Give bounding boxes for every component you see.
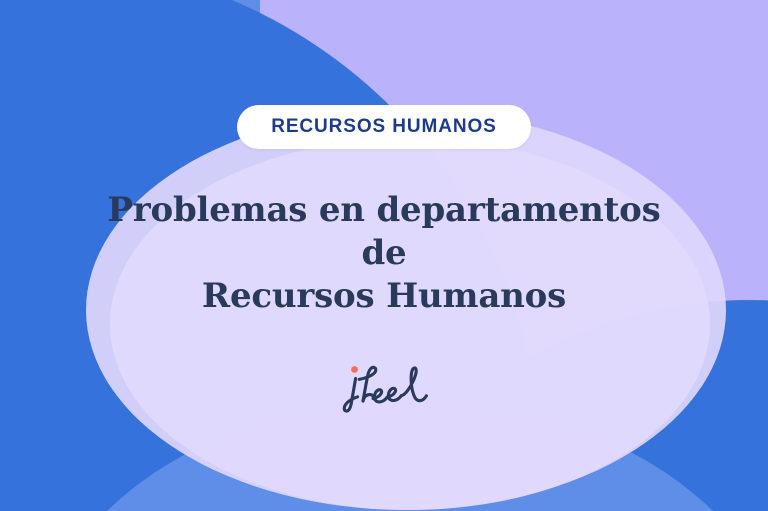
page-title: Problemas en departamentos de Recursos H… (84, 189, 684, 317)
promo-banner: RECURSOS HUMANOS Problemas en departamen… (0, 0, 768, 511)
category-badge: RECURSOS HUMANOS (237, 105, 531, 149)
ifeel-script-logo-icon (336, 359, 432, 415)
category-badge-label: RECURSOS HUMANOS (271, 117, 497, 136)
page-title-line-1: Problemas en departamentos de (84, 189, 684, 275)
banner-content: RECURSOS HUMANOS Problemas en departamen… (0, 0, 768, 511)
ifeel-logo: ifeel (336, 359, 432, 415)
ifeel-accent-dot (351, 367, 358, 374)
page-title-line-2: Recursos Humanos (84, 275, 684, 318)
